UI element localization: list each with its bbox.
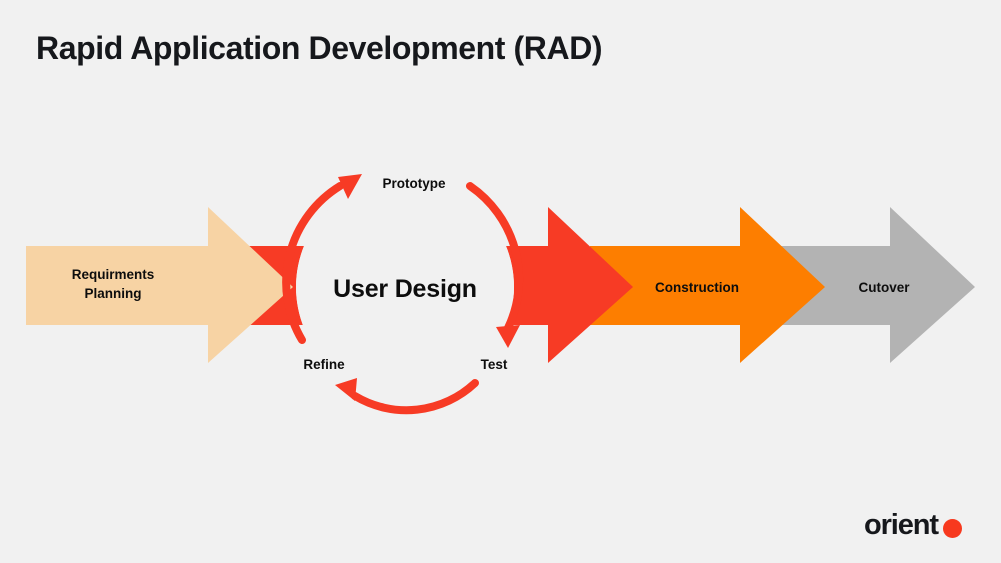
cycle-label-prototype: Prototype <box>382 176 445 191</box>
rad-process-diagram: Cutover Construction Requirments Plannin… <box>0 0 1001 563</box>
cutover-label: Cutover <box>858 280 910 295</box>
cycle-arrowhead-refine <box>335 378 357 401</box>
cycle-label-refine: Refine <box>303 357 345 372</box>
requirements-planning-label-line1: Requirments <box>72 267 155 282</box>
orient-logo-wordmark: orient <box>864 511 938 540</box>
orient-logo: orient <box>864 508 962 542</box>
requirements-planning-arrow-shape <box>26 207 293 363</box>
slide-canvas: Rapid Application Development (RAD) Cuto… <box>0 0 1001 563</box>
construction-label: Construction <box>655 280 739 295</box>
cycle-label-test: Test <box>481 357 508 372</box>
requirements-planning-label-line2: Planning <box>85 286 142 301</box>
orient-logo-dot-icon <box>943 519 962 538</box>
cycle-center-label: User Design <box>333 275 477 303</box>
stage-arrow-requirements-planning: Requirments Planning <box>26 207 293 363</box>
